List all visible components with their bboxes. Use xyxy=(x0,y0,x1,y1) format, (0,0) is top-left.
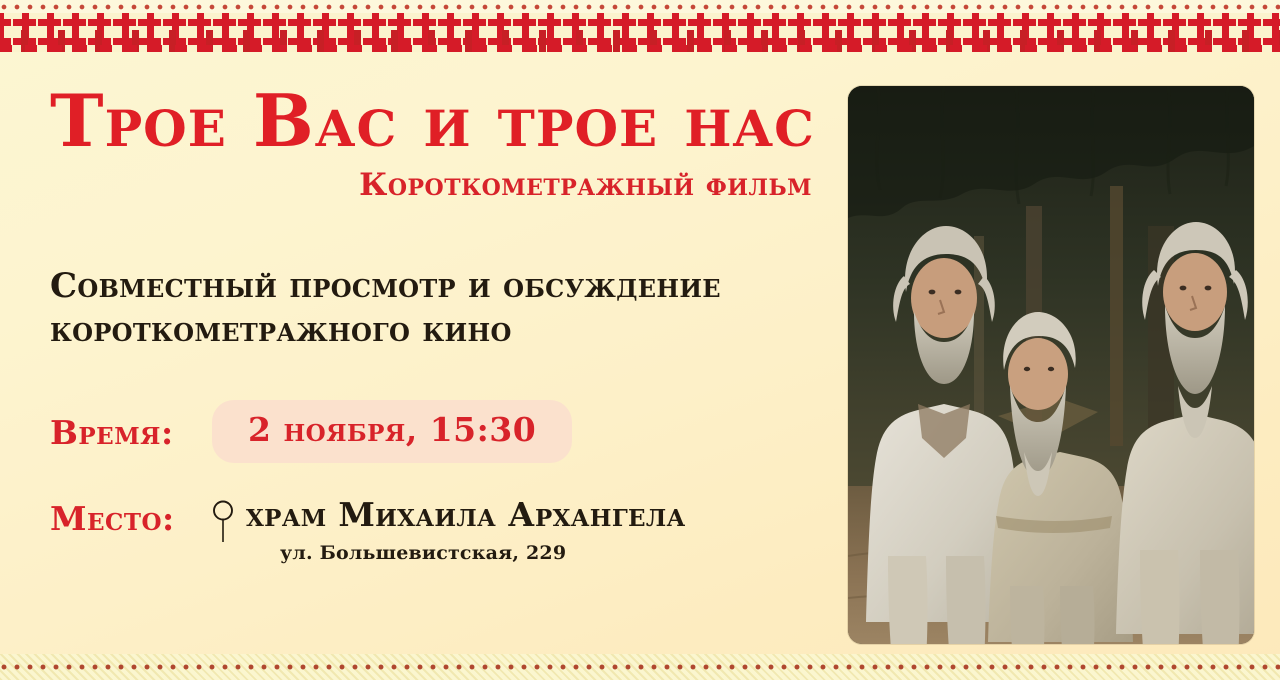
ornament-dot-row xyxy=(0,3,1280,11)
map-pin-icon xyxy=(212,499,234,548)
ornament-bottom-dot-row xyxy=(0,663,1280,672)
poster-content: Трое Вас и трое нас Короткометражный фил… xyxy=(50,84,840,564)
place-row: Место: храм Михаила Архангела ул. Больше… xyxy=(50,497,840,564)
top-ornament-band xyxy=(0,0,1280,52)
bottom-ornament-band xyxy=(0,654,1280,680)
venue-name: храм Михаила Архангела xyxy=(246,495,686,534)
place-body: храм Михаила Архангела ул. Большевистска… xyxy=(212,497,686,564)
venue-address: ул. Большевистская, 229 xyxy=(246,542,686,564)
time-label: Время: xyxy=(50,411,212,452)
place-label: Место: xyxy=(50,497,212,538)
event-poster: Трое Вас и трое нас Короткометражный фил… xyxy=(0,0,1280,680)
time-value-badge: 2 ноября, 15:30 xyxy=(212,400,572,463)
poster-subtitle: Короткометражный фильм xyxy=(50,167,812,203)
ornament-base-line xyxy=(0,45,1280,52)
place-text: храм Михаила Архангела ул. Большевистска… xyxy=(246,497,686,564)
page-title: Трое Вас и трое нас xyxy=(50,84,840,157)
time-row: Время: 2 ноября, 15:30 xyxy=(50,400,840,463)
film-still-photo xyxy=(848,86,1254,644)
poster-description: Совместный просмотр и обсуждение коротко… xyxy=(50,265,750,352)
